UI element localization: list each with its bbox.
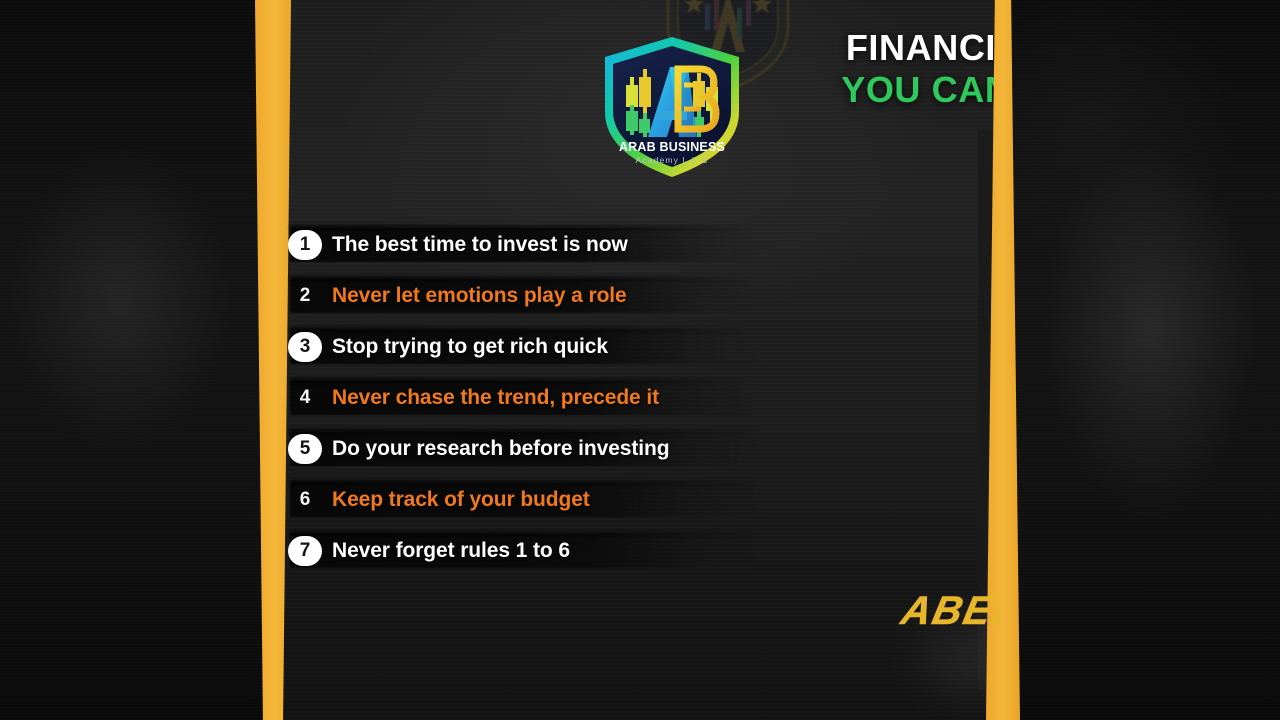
rule-number-badge: 1 [288, 230, 322, 260]
logo-name-line2: Academy L.L.C [635, 155, 708, 165]
rule-number-badge: 6 [288, 485, 322, 515]
rule-item: 6Keep track of your budget [278, 479, 748, 521]
rule-item: 1The best time to invest is now [278, 224, 748, 266]
logo-name-line1: ARAB BUSINESS [619, 140, 725, 154]
rule-text: Never forget rules 1 to 6 [332, 539, 570, 563]
headline-block: FINANCIAL RULES YOU CAN'T BREAK [778, 28, 1000, 111]
poster-canvas: ARAB BUSINESS Academy L.L.C FINANCIAL RU… [0, 0, 1280, 720]
headline-line-2: YOU CAN'T BREAK [778, 70, 1000, 110]
signature-name: ABED ALRAHMAN [897, 587, 1000, 632]
rule-text: Never chase the trend, precede it [332, 386, 659, 410]
rule-text: Do your research before investing [332, 437, 669, 461]
headline-line-1: FINANCIAL RULES [778, 28, 1000, 68]
rule-item: 5Do your research before investing [278, 428, 748, 470]
rule-item: 2Never let emotions play a role [278, 275, 748, 317]
rule-number-badge: 4 [288, 383, 322, 413]
rule-number-badge: 3 [288, 332, 322, 362]
rule-item: 7Never forget rules 1 to 6 [278, 530, 748, 572]
signature-block: ABED ALRAHMAN Asfar [886, 566, 1000, 686]
rule-number-badge: 5 [288, 434, 322, 464]
rule-number-badge: 7 [288, 536, 322, 566]
rule-text: Never let emotions play a role [332, 284, 627, 308]
rule-item: 3Stop trying to get rich quick [278, 326, 748, 368]
rules-list: 1The best time to invest is now2Never le… [278, 224, 748, 581]
rule-text: The best time to invest is now [332, 233, 628, 257]
rule-number-badge: 2 [288, 281, 322, 311]
arab-business-academy-logo: ARAB BUSINESS Academy L.L.C [596, 33, 748, 181]
rule-text: Keep track of your budget [332, 488, 590, 512]
rule-text: Stop trying to get rich quick [332, 335, 608, 359]
rule-item: 4Never chase the trend, precede it [278, 377, 748, 419]
